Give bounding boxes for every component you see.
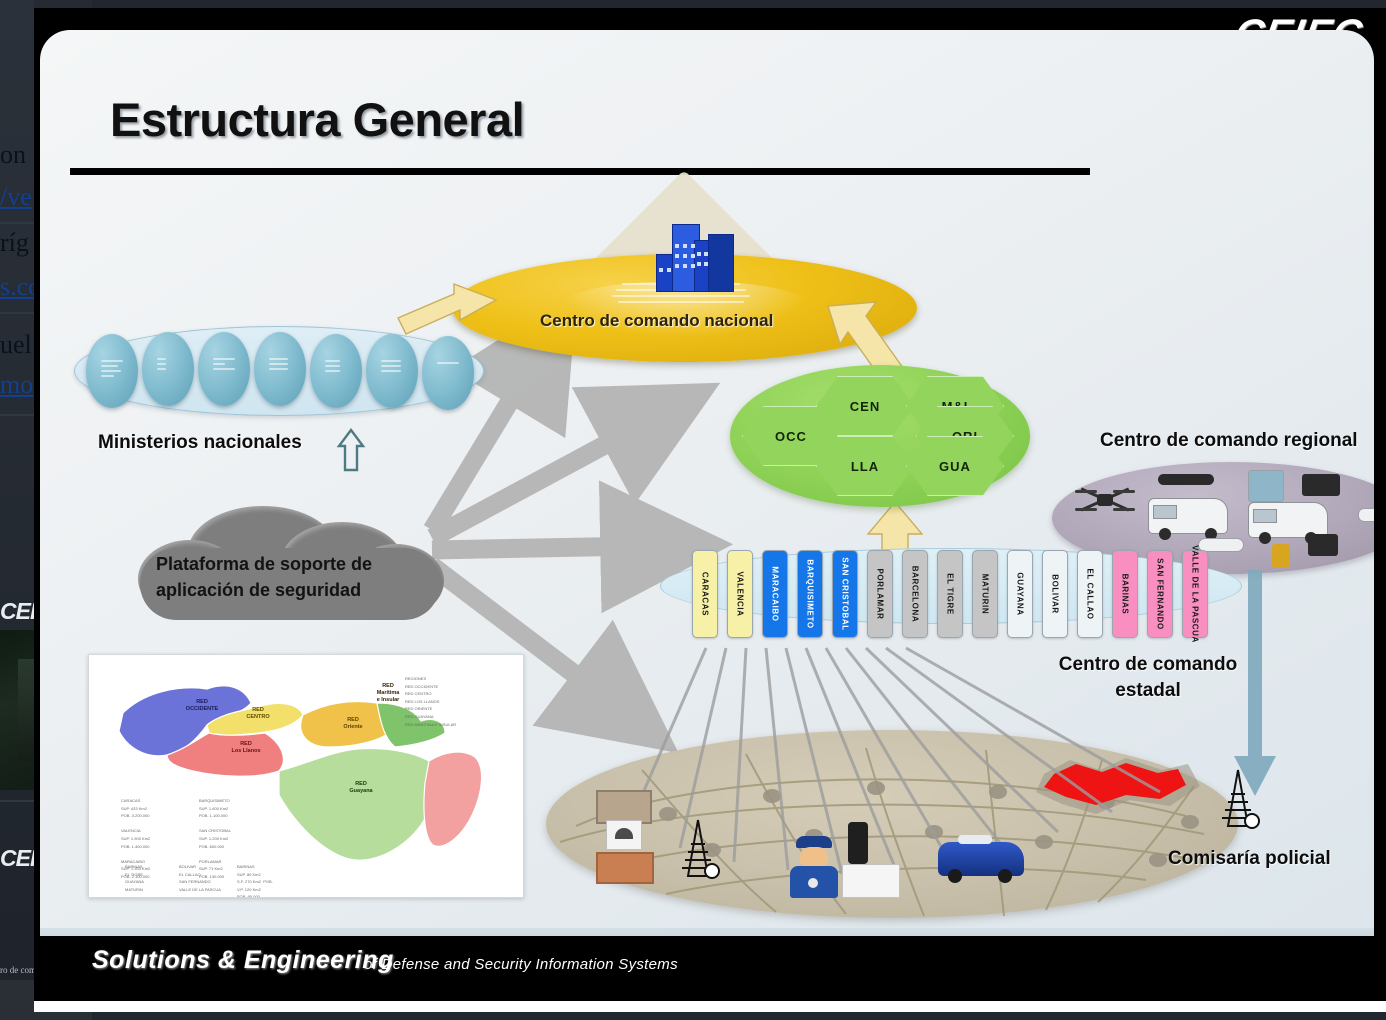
map-stats-col-4: BOLIVAR EL CALLAO SAN FERNANDO VALLE DE … xyxy=(179,863,221,893)
antenna-mast-icon xyxy=(1216,768,1260,830)
state-center-bar[interactable]: BARCELONA xyxy=(902,550,928,638)
state-center-label: VALENCIA xyxy=(736,571,745,616)
map-region-label: RED Oriente xyxy=(325,717,381,731)
map-stats-col-3: BARINAS EL TIGRE GUAYANA MATURIN xyxy=(125,863,144,893)
state-center-bar[interactable]: MARACAIBO xyxy=(762,550,788,638)
state-center-label: BOLIVAR xyxy=(1051,574,1060,614)
state-center-label: EL TIGRE xyxy=(946,573,955,615)
police-officer-icon xyxy=(788,836,840,898)
state-center-bar[interactable]: BOLIVAR xyxy=(1042,550,1068,638)
state-center-bar[interactable]: MATURIN xyxy=(972,550,998,638)
state-center-label: BARINAS xyxy=(1121,574,1130,615)
police-car-icon xyxy=(938,842,1024,876)
state-center-bar[interactable]: BARQUISIMETO xyxy=(797,550,823,638)
state-center-label: SAN FERNANDO xyxy=(1156,558,1165,630)
state-center-bar[interactable]: VALENCIA xyxy=(727,550,753,638)
state-center-bar[interactable]: SAN FERNANDO xyxy=(1147,550,1173,638)
state-center-bar[interactable]: SAN CRISTOBAL xyxy=(832,550,858,638)
slide-canvas: Estructura General xyxy=(40,30,1374,936)
venezuela-network-map[interactable]: RED OCCIDENTE RED CENTRO RED Los Llanos … xyxy=(88,654,524,898)
state-center-bar[interactable]: EL TIGRE xyxy=(937,550,963,638)
state-center-bar[interactable]: GUAYANA xyxy=(1007,550,1033,638)
presentation-slide: CEIEC Estructura General xyxy=(34,8,1386,1012)
state-center-label: CARACAS xyxy=(701,572,710,616)
state-center-label: EL CALLAO xyxy=(1086,568,1095,619)
police-station-label: Comisaría policial xyxy=(1168,848,1331,870)
state-center-bar[interactable]: BARINAS xyxy=(1112,550,1138,638)
state-center-label: BARQUISIMETO xyxy=(806,559,815,628)
photo-monitor-icon xyxy=(596,790,652,824)
state-center-label: GUAYANA xyxy=(1016,572,1025,615)
state-center-label: BARCELONA xyxy=(911,566,920,623)
footer-secondary-text: of Defense and Security Information Syst… xyxy=(364,956,678,973)
handheld-radio-icon xyxy=(848,822,868,864)
slide-footer: Solutions & Engineering of Defense and S… xyxy=(40,936,1374,988)
footer-primary-text: Solutions & Engineering xyxy=(92,946,394,975)
state-center-bar[interactable]: PORLAMAR xyxy=(867,550,893,638)
state-center-label: MATURIN xyxy=(981,574,990,615)
map-region-label: RED Guayana xyxy=(329,781,393,795)
state-center-bar[interactable]: CARACAS xyxy=(692,550,718,638)
state-center-label: PORLAMAR xyxy=(876,568,885,619)
map-region-label: RED Los Llanos xyxy=(215,741,277,755)
map-region-label: RED OCCIDENTE xyxy=(167,699,237,713)
map-legend: REGIONES RED OCCIDENTE RED CENTRO RED LO… xyxy=(405,675,456,728)
map-region-label: RED CENTRO xyxy=(231,707,285,721)
state-center-bar[interactable]: VALLE DE LA PASCUA xyxy=(1182,550,1208,638)
antenna-tower-icon xyxy=(676,818,720,880)
cctv-camera-icon xyxy=(596,852,654,884)
state-center-label: MARACAIBO xyxy=(771,566,780,621)
dome-camera-icon xyxy=(606,820,642,850)
map-stats-col-5: BARINAS SUP. 80 Km2 S.F. 270 Km2 POB. V.… xyxy=(237,863,273,898)
slide-bottom-strip xyxy=(34,1001,1386,1012)
map-regions xyxy=(89,655,523,897)
state-center-bar[interactable]: EL CALLAO xyxy=(1077,550,1103,638)
state-center-label: SAN CRISTOBAL xyxy=(841,557,850,630)
device-tray-icon xyxy=(842,864,900,898)
